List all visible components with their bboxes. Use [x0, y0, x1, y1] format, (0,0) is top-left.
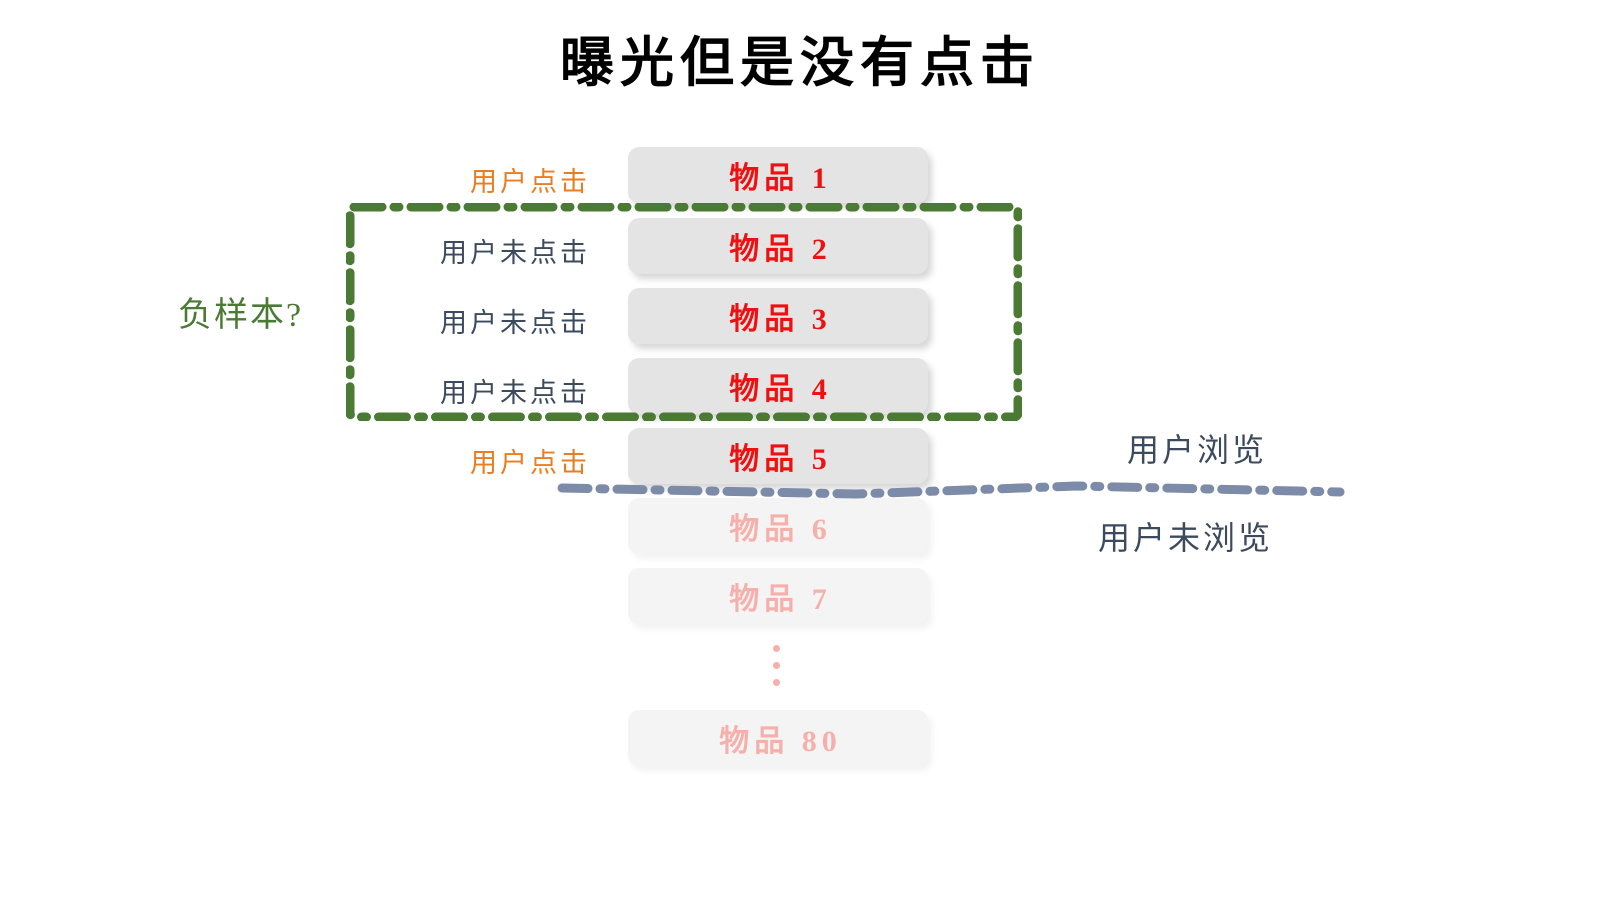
item-card-7[interactable]: 物品 7: [628, 568, 928, 624]
vertical-ellipsis-icon: [768, 645, 784, 691]
item-card-1[interactable]: 物品 1: [628, 147, 928, 203]
diagram-canvas: 曝光但是没有点击 用户点击 物品 1 用户未点击 物品 2 用户未点击 物品 3…: [0, 0, 1600, 897]
item-card-5[interactable]: 物品 5: [628, 428, 928, 484]
item-label-7: 物品 7: [724, 574, 832, 618]
page-title: 曝光但是没有点击: [0, 18, 1600, 97]
negative-sample-label: 负样本?: [178, 287, 303, 336]
item-label-5: 物品 5: [724, 434, 832, 478]
negative-sample-box: [346, 203, 1022, 421]
item-card-6[interactable]: 物品 6: [628, 498, 928, 554]
click-label-item-1: 用户点击: [410, 160, 590, 199]
item-card-80[interactable]: 物品 80: [628, 710, 928, 766]
item-label-6: 物品 6: [724, 504, 832, 548]
browse-seen-label: 用户浏览: [1127, 425, 1267, 471]
item-label-1: 物品 1: [724, 153, 832, 197]
item-label-80: 物品 80: [714, 716, 842, 760]
browse-unseen-label: 用户未浏览: [1098, 513, 1273, 559]
click-label-item-5: 用户点击: [410, 441, 590, 480]
